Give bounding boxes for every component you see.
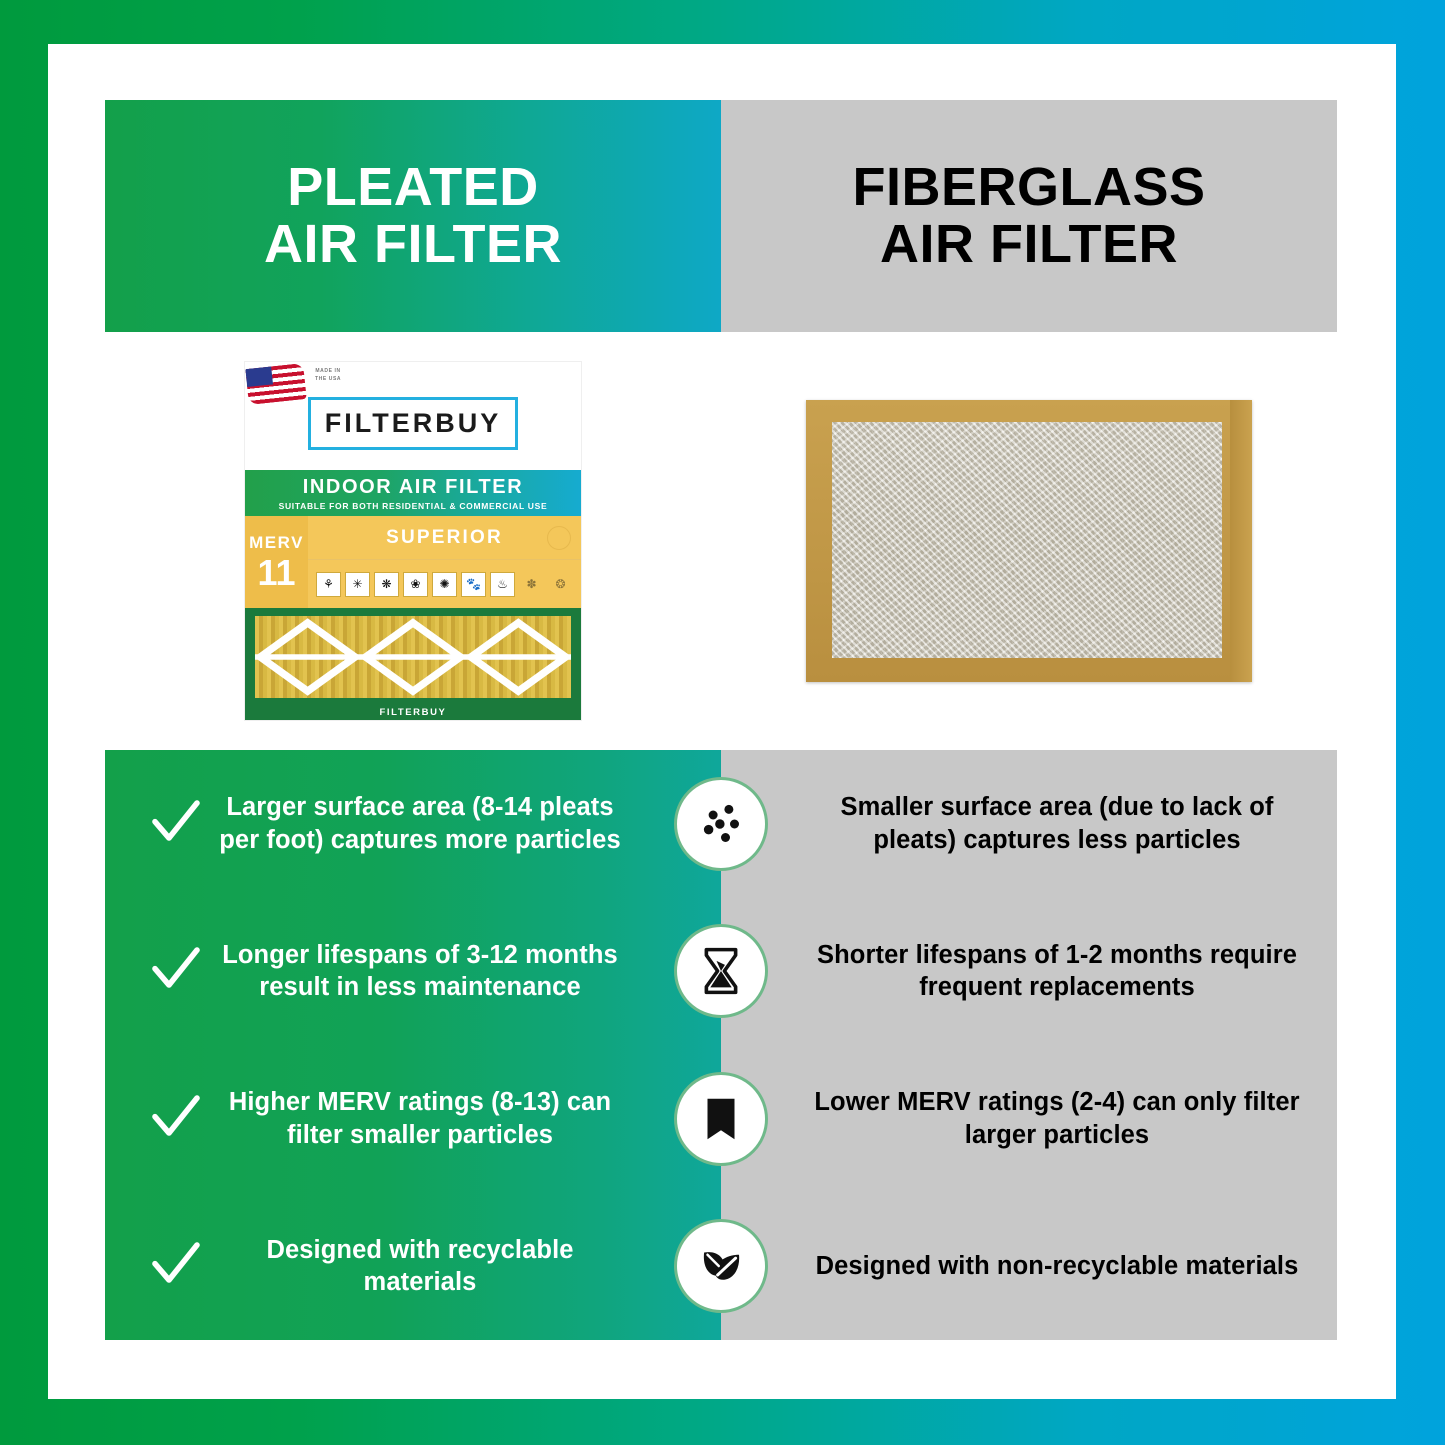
header-pleated: PLEATED AIR FILTER: [105, 100, 721, 332]
filterbuy-box-image: MADE IN THE USA FILTERBUY INDOOR AIR FIL…: [245, 362, 581, 720]
leaf-svg: [694, 1239, 748, 1293]
fiberglass-image-cell: [721, 332, 1337, 750]
brand-name: FILTERBUY: [325, 408, 502, 439]
lattice-svg: [255, 616, 571, 698]
made-in-line1: MADE IN: [315, 368, 341, 376]
fiberglass-row-3: Lower MERV ratings (2-4) can only filter…: [721, 1045, 1337, 1193]
fiberglass-filter-image: [806, 400, 1252, 682]
brand-outline: FILTERBUY: [308, 397, 519, 450]
ribbon-bookmark-icon: [674, 1072, 768, 1166]
fiberglass-row-1-text: Smaller surface area (due to lack of ple…: [813, 791, 1301, 856]
checkmark-icon: [141, 1091, 211, 1147]
merv-block: MERV 11: [245, 516, 308, 608]
header-fiberglass: FIBERGLASS AIR FILTER: [721, 100, 1337, 332]
box-merv-section: MERV 11 SUPERIOR ⚘ ✳: [245, 516, 581, 608]
checkmark-icon: [141, 1238, 211, 1294]
virus-icon: ❋: [374, 572, 399, 597]
mold-icon: ✺: [432, 572, 457, 597]
ul-certification-icon: [547, 526, 571, 550]
made-in-usa-label: MADE IN THE USA: [315, 368, 341, 383]
header-row: PLEATED AIR FILTER FIBERGLASS AIR FILTER: [105, 100, 1337, 332]
box-band: INDOOR AIR FILTER SUITABLE FOR BOTH RESI…: [245, 470, 581, 516]
made-in-line2: THE USA: [315, 376, 341, 384]
product-images-row: MADE IN THE USA FILTERBUY INDOOR AIR FIL…: [105, 332, 1337, 750]
checkmark-icon: [141, 943, 211, 999]
hourglass-svg: [694, 944, 748, 998]
dust-icon: ⚘: [316, 572, 341, 597]
box-band-title: INDOOR AIR FILTER: [303, 476, 524, 499]
pleated-row-2: Longer lifespans of 3-12 months result i…: [105, 898, 721, 1046]
fiberglass-row-4-text: Designed with non-recyclable materials: [813, 1250, 1301, 1283]
pleated-row-1-text: Larger surface area (8-14 pleats per foo…: [211, 791, 629, 856]
fiberglass-row-3-text: Lower MERV ratings (2-4) can only filter…: [813, 1086, 1301, 1151]
comparison-section: Larger surface area (8-14 pleats per foo…: [105, 750, 1337, 1340]
pet-dander-icon: 🐾: [461, 572, 486, 597]
smoke-icon: ♨: [490, 572, 515, 597]
insect-icon: ✳: [345, 572, 370, 597]
comparison-board: PLEATED AIR FILTER FIBERGLASS AIR FILTER: [105, 100, 1337, 1340]
merv-right-block: SUPERIOR ⚘ ✳ ❋ ❀ ✺ 🐾: [308, 516, 581, 608]
center-badge-column: [667, 750, 775, 1340]
particles-icon: [674, 777, 768, 871]
infographic-frame: PLEATED AIR FILTER FIBERGLASS AIR FILTER: [0, 0, 1445, 1445]
merv-label: MERV: [249, 534, 304, 551]
fiberglass-frame-edge: [1230, 400, 1252, 682]
badge-slot-2: [667, 898, 775, 1046]
checkmark-icon: [141, 796, 211, 852]
pleated-row-2-text: Longer lifespans of 3-12 months result i…: [211, 939, 629, 1004]
box-pleat-window: FILTERBUY: [245, 608, 581, 720]
feature-icon-strip: ⚘ ✳ ❋ ❀ ✺ 🐾 ♨ ✽ ❂: [308, 560, 581, 608]
pleated-column: Larger surface area (8-14 pleats per foo…: [105, 750, 721, 1340]
tier-row: SUPERIOR: [308, 516, 581, 560]
header-pleated-line1: PLEATED: [287, 159, 539, 216]
box-band-subtitle: SUITABLE FOR BOTH RESIDENTIAL & COMMERCI…: [279, 501, 548, 511]
bookmark-svg: [694, 1092, 748, 1146]
header-fiberglass-line2: AIR FILTER: [880, 216, 1178, 273]
white-sheet: PLEATED AIR FILTER FIBERGLASS AIR FILTER: [48, 44, 1396, 1399]
pleated-row-3-text: Higher MERV ratings (8-13) can filter sm…: [211, 1086, 629, 1151]
pleat-lattice-overlay: [255, 616, 571, 698]
tier-label: SUPERIOR: [386, 527, 503, 549]
particles-svg: [694, 797, 748, 851]
header-fiberglass-line1: FIBERGLASS: [852, 159, 1205, 216]
pleated-image-cell: MADE IN THE USA FILTERBUY INDOOR AIR FIL…: [105, 332, 721, 750]
pleated-row-1: Larger surface area (8-14 pleats per foo…: [105, 750, 721, 898]
badge-slot-1: [667, 750, 775, 898]
fiberglass-row-2-text: Shorter lifespans of 1-2 months require …: [813, 939, 1301, 1004]
bacteria-icon-ghost: ✽: [519, 572, 544, 597]
pollen-icon: ❀: [403, 572, 428, 597]
header-pleated-line2: AIR FILTER: [264, 216, 562, 273]
badge-slot-4: [667, 1193, 775, 1341]
hourglass-icon: [674, 924, 768, 1018]
badge-slot-3: [667, 1045, 775, 1193]
leaf-eco-icon: [674, 1219, 768, 1313]
fiberglass-column: Smaller surface area (due to lack of ple…: [721, 750, 1337, 1340]
fiberglass-row-4: Designed with non-recyclable materials: [721, 1193, 1337, 1341]
fiberglass-row-2: Shorter lifespans of 1-2 months require …: [721, 898, 1337, 1046]
pleated-row-4: Designed with recyclable materials: [105, 1193, 721, 1341]
merv-value: 11: [257, 555, 295, 591]
fiberglass-media: [832, 422, 1222, 658]
box-footer-brand: FILTERBUY: [245, 707, 581, 718]
pleated-row-4-text: Designed with recyclable materials: [211, 1234, 629, 1299]
fiberglass-row-1: Smaller surface area (due to lack of ple…: [721, 750, 1337, 898]
odor-icon-ghost: ❂: [548, 572, 573, 597]
box-top-panel: MADE IN THE USA FILTERBUY: [245, 362, 581, 470]
usa-flag-icon: [245, 363, 306, 405]
pleated-row-3: Higher MERV ratings (8-13) can filter sm…: [105, 1045, 721, 1193]
